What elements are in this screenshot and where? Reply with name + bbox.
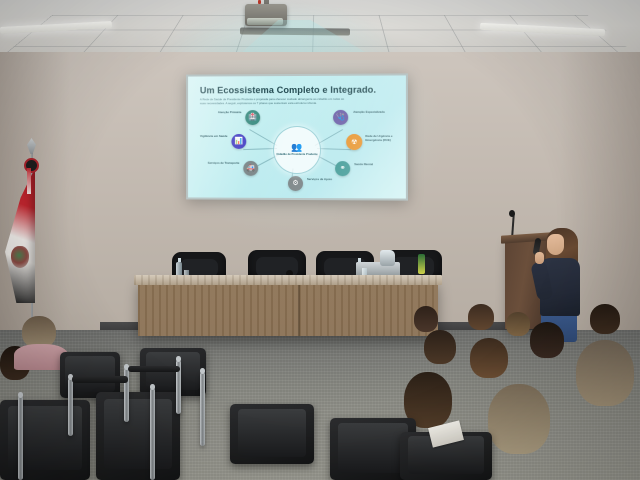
head-table-surface — [134, 275, 442, 285]
brain-icon: ⚭ — [340, 165, 346, 172]
monitor-icon: 📊 — [235, 138, 244, 145]
audience-head — [530, 322, 564, 358]
presenter-hand — [535, 252, 544, 264]
emergency-icon: ☢ — [351, 139, 357, 146]
audience-head — [468, 304, 494, 330]
diagram-node-label: Rede de Urgência e Emergência (RUE) — [365, 135, 405, 142]
diagram-node-rede-urgencia-emergencia[interactable]: ☢ — [346, 134, 362, 150]
seat-rail — [150, 388, 155, 480]
thermal-bottle[interactable] — [418, 254, 425, 274]
seat-back — [238, 409, 307, 457]
diagram-hub[interactable]: 👥 Cidadão de Presidente Prudente — [273, 126, 321, 174]
ecosystem-diagram: 🏥 Atenção Primária 📊 Vigilância em Saúde… — [188, 108, 406, 199]
seat-rail — [18, 396, 23, 480]
diagram-node-label: Serviços de Transporte — [200, 162, 239, 166]
diagram-node-label: Serviços de Apoio — [307, 178, 347, 182]
water-pitcher[interactable] — [380, 250, 395, 266]
table-panel-seam — [298, 280, 300, 336]
ceiling — [0, 0, 640, 58]
audience-head — [424, 330, 456, 364]
stethoscope-icon: 🩺 — [336, 114, 345, 121]
diagram-node-atencao-primaria[interactable]: 🏥 — [245, 110, 260, 125]
table-wood-grain — [138, 280, 438, 336]
diagram-edge — [317, 148, 351, 150]
diagram-node-label: Atenção Especializada — [353, 111, 393, 115]
presenter-face — [547, 234, 564, 255]
seat-back — [104, 399, 173, 469]
presentation-slide: Um Ecossistema Completo e Integrado. A R… — [188, 75, 406, 198]
audience-head — [576, 340, 634, 406]
ambulance-icon: 🚑 — [246, 165, 255, 172]
ceiling-projector — [245, 4, 287, 26]
gears-icon: ⚙ — [292, 180, 298, 187]
diagram-edge — [243, 148, 277, 150]
audience-head — [506, 312, 530, 336]
diagram-node-vigilancia-em-saude[interactable]: 📊 — [231, 134, 246, 149]
projector-lens — [247, 18, 283, 25]
audience-seat[interactable] — [230, 404, 314, 464]
seat-rail — [200, 372, 205, 446]
seat-back — [338, 423, 409, 473]
diagram-node-servicos-de-apoio[interactable]: ⚙ — [288, 176, 303, 191]
gooseneck-microphone[interactable] — [509, 210, 515, 217]
flag-ribbon — [27, 168, 31, 194]
slide-title: Um Ecossistema Completo e Integrado. — [200, 85, 396, 96]
audience-head — [414, 306, 438, 332]
head-table-front — [138, 280, 438, 336]
clinic-icon: 🏥 — [248, 114, 257, 121]
diagram-node-label: Saúde Mental — [354, 163, 394, 167]
audience-seat[interactable] — [96, 392, 180, 480]
slide-subtitle: A Rede de Saúde de Presidente Prudente é… — [200, 98, 349, 106]
seat-armrest — [72, 376, 128, 383]
light-fixture-center — [240, 28, 350, 36]
seat-rail — [68, 378, 73, 436]
wall-shadow-left — [0, 52, 70, 332]
audience-head — [470, 338, 508, 378]
conference-room-scene: Um Ecossistema Completo e Integrado. A R… — [0, 0, 640, 480]
table-surface-grain — [134, 275, 442, 285]
diagram-node-servicos-de-transporte[interactable]: 🚑 — [243, 161, 258, 176]
flag-coat-of-arms — [11, 246, 29, 268]
seat-armrest — [128, 366, 180, 372]
diagram-node-label: Atenção Primária — [202, 111, 241, 115]
diagram-node-saude-mental[interactable]: ⚭ — [335, 161, 350, 176]
audience-head — [488, 384, 550, 454]
projection-screen: Um Ecossistema Completo e Integrado. A R… — [186, 73, 408, 200]
diagram-node-atencao-especializada[interactable]: 🩺 — [333, 110, 348, 125]
diagram-node-label: Vigilância em Saúde — [188, 135, 227, 138]
audience-head — [590, 304, 620, 334]
audience-seat[interactable] — [0, 400, 90, 480]
people-group-icon: 👥 — [291, 143, 302, 152]
diagram-hub-label: Cidadão de Presidente Prudente — [276, 153, 317, 156]
